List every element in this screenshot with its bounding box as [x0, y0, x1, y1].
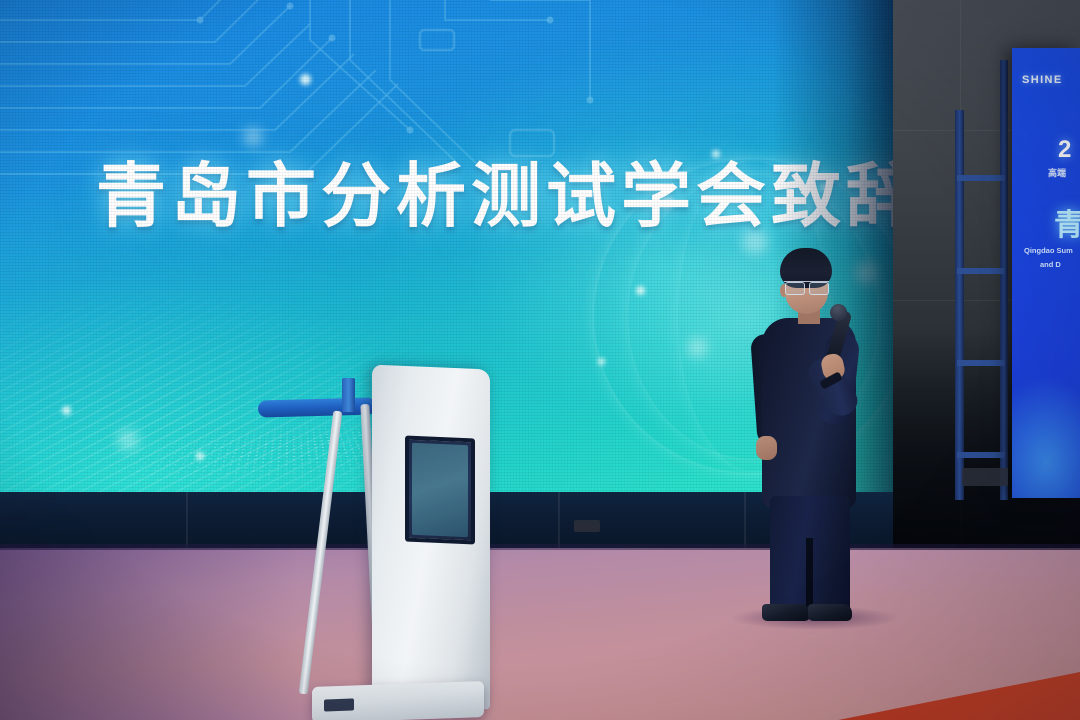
- stage-truss-inner: [1000, 60, 1008, 500]
- bokeh-light: [636, 286, 645, 295]
- bokeh-light: [62, 406, 71, 415]
- stage-truss: [955, 110, 964, 500]
- truss-rung: [957, 268, 1005, 274]
- podium-base-logo: [324, 698, 354, 711]
- bokeh-light: [598, 358, 605, 365]
- bokeh-light: [688, 338, 707, 357]
- speaker-shoe-left: [762, 604, 810, 621]
- side-banner-title-en-1: Qingdao Sum: [1024, 246, 1073, 255]
- side-banner-logo: SHINE: [1022, 74, 1063, 86]
- podium-microphone-boom: [258, 397, 376, 417]
- stage-equipment: [574, 520, 600, 532]
- podium-microphone-stem: [342, 378, 355, 412]
- bokeh-light: [300, 74, 311, 85]
- bokeh-light: [118, 430, 138, 450]
- side-banner-subtitle: 高端: [1048, 166, 1066, 179]
- truss-rung: [957, 175, 1005, 181]
- side-banner-year: 2: [1058, 136, 1071, 164]
- side-banner-title-en-2: and D: [1040, 260, 1061, 269]
- stage-equipment: [962, 468, 1008, 486]
- side-banner: SHINE 2 高端 青岛 Qingdao Sum and D: [1012, 48, 1080, 498]
- bokeh-light: [196, 452, 204, 460]
- podium-display[interactable]: [405, 436, 475, 545]
- speaker: [744, 248, 876, 620]
- floor-shadow: [0, 548, 300, 720]
- truss-rung: [957, 360, 1005, 366]
- speaker-shoe-right: [808, 604, 852, 621]
- truss-rung: [957, 452, 1005, 458]
- glasses-icon: [784, 281, 829, 294]
- podium-display-surface: [412, 443, 468, 537]
- speaker-left-hand: [756, 436, 777, 460]
- side-banner-title-cn: 青岛: [1054, 200, 1080, 244]
- conference-stage-photo: SHINE 2 高端 青岛 Qingdao Sum and D: [0, 0, 1080, 720]
